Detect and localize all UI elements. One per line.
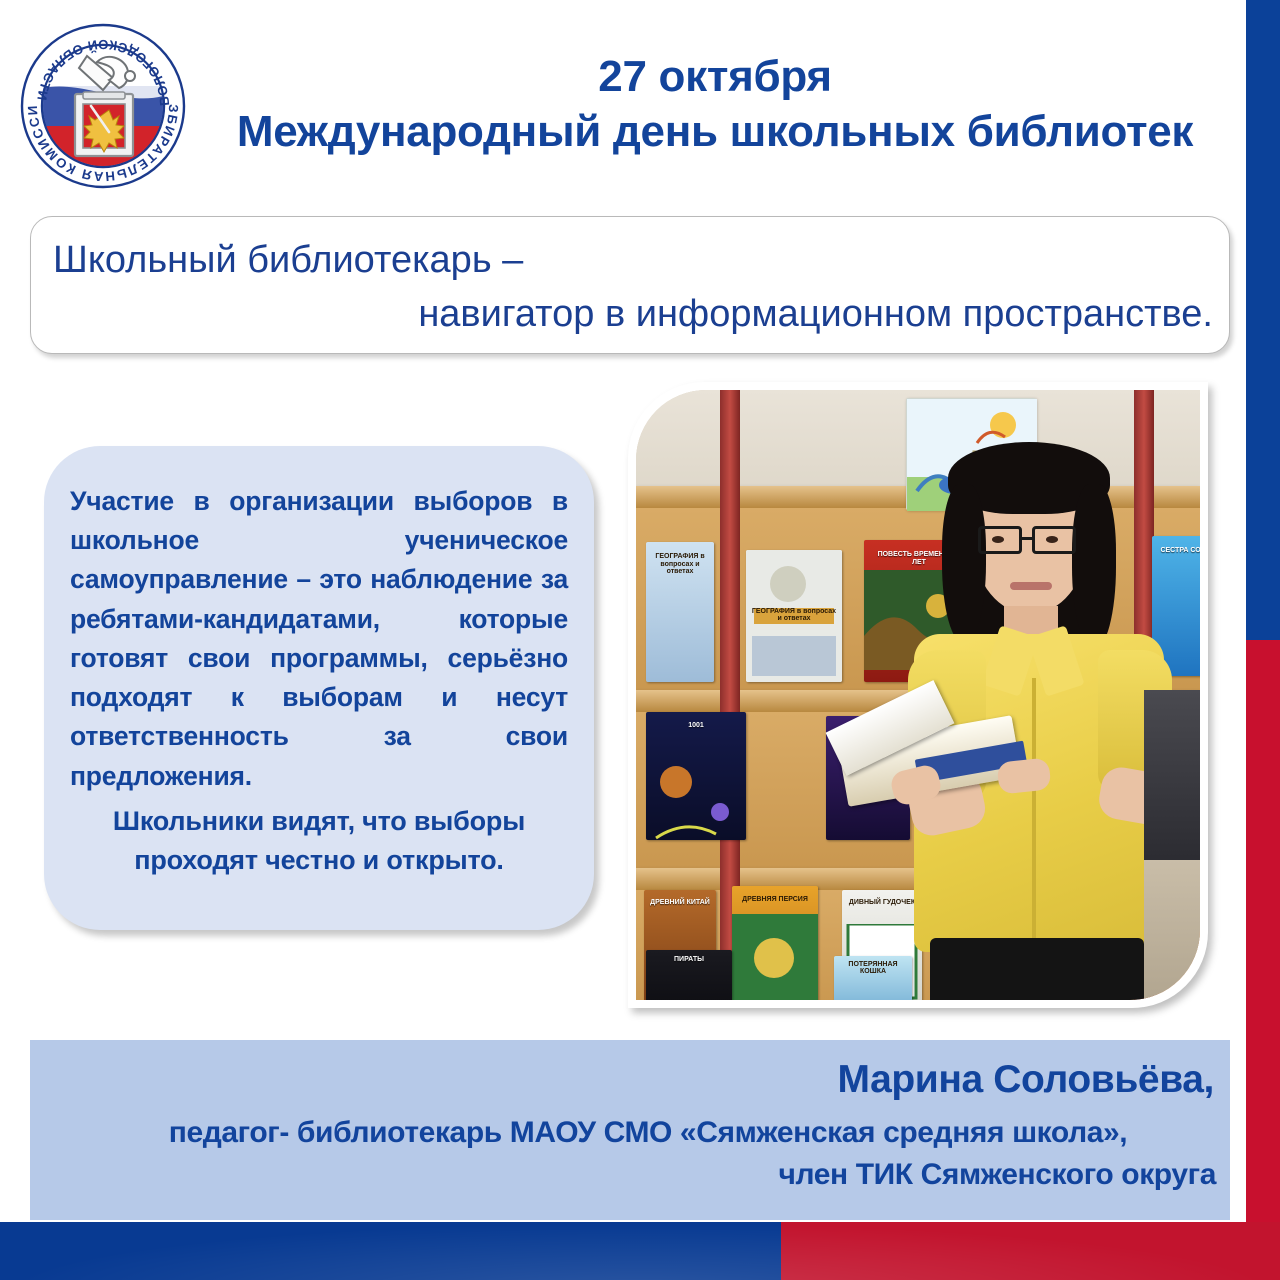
right-flag-stripe: [1246, 0, 1280, 1222]
header: ИЗБИРАТЕЛЬНАЯ КОМИССИЯ ВОЛОГОДСКОЙ ОБЛАС…: [0, 0, 1246, 200]
book-title: ГЕОГРАФИЯ в вопросах и ответах: [650, 553, 710, 575]
librarian-photo: С книгой ГЕОГРАФИЯ в вопросах и ответах …: [636, 390, 1200, 1000]
quote-tail: Школьники видят, что выборы проходят чес…: [70, 802, 568, 880]
subtitle-line-1: Школьный библиотекарь –: [53, 239, 523, 282]
person-name: Марина Соловьёва,: [838, 1058, 1214, 1102]
subtitle-card: Школьный библиотекарь – навигатор в инфо…: [30, 216, 1230, 354]
election-commission-logo-icon: ИЗБИРАТЕЛЬНАЯ КОМИССИЯ ВОЛОГОДСКОЙ ОБЛАС…: [17, 20, 189, 192]
book-title: ПИРАТЫ: [651, 956, 727, 963]
quote-box: Участие в организации выборов в школьное…: [44, 446, 594, 930]
book-title: ГЕОГРАФИЯ в вопросах и ответах: [752, 608, 837, 623]
page-title: Международный день школьных библиотек: [200, 107, 1230, 156]
caption-band: Марина Соловьёва, педагог- библиотекарь …: [30, 1040, 1230, 1220]
page-title-block: 27 октября Международный день школьных б…: [200, 52, 1230, 157]
photo-frame: С книгой ГЕОГРАФИЯ в вопросах и ответах …: [628, 382, 1208, 1008]
book-title: ДРЕВНЯЯ ПЕРСИЯ: [737, 896, 813, 903]
book-title: 1001: [652, 722, 740, 729]
subtitle-line-2: навигатор в информационном пространстве.: [418, 293, 1213, 336]
book-title: ДРЕВНИЙ КИТАЙ: [648, 899, 711, 906]
person-role-line-1: педагог- библиотекарь МАОУ СМО «Сямженск…: [80, 1116, 1216, 1150]
quote-tail-line-2: проходят честно и открыто.: [134, 845, 503, 875]
quote-tail-line-1: Школьники видят, что выборы: [113, 806, 525, 836]
quote-body: Участие в организации выборов в школьное…: [70, 482, 568, 796]
person-role-line-2: член ТИК Сямженского округа: [778, 1158, 1216, 1192]
header-date: 27 октября: [200, 52, 1230, 101]
bottom-flag-stripe: [0, 1222, 1280, 1280]
